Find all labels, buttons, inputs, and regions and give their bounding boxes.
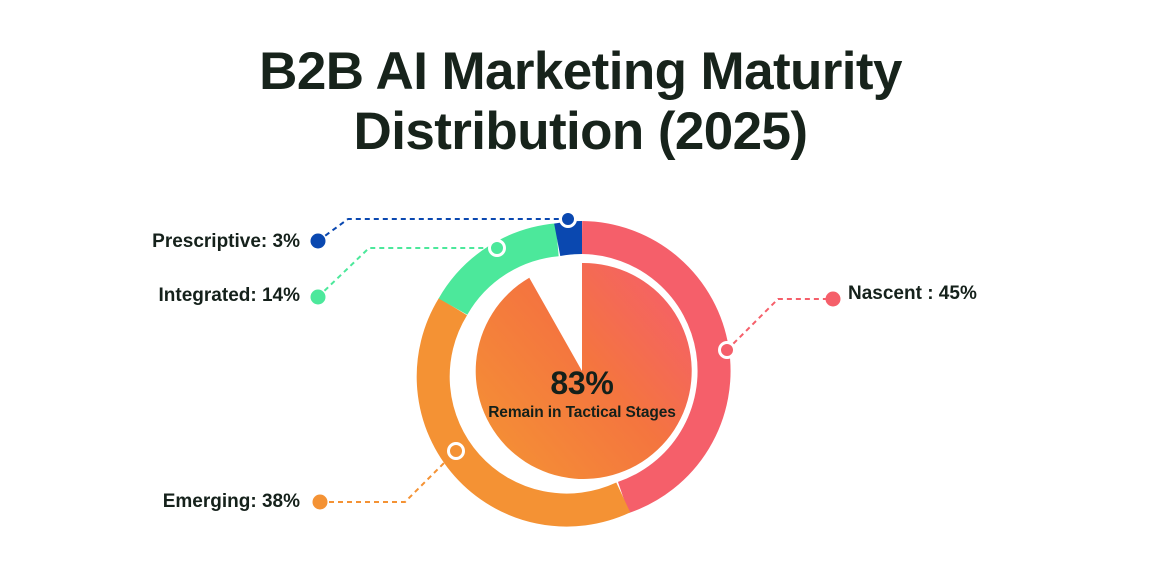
connector-dot-nascent-label bbox=[826, 292, 841, 307]
callout-label-integrated: Integrated: 14% bbox=[0, 285, 300, 307]
connector-dot-prescriptive-slice bbox=[561, 212, 576, 227]
connector-dot-prescriptive-label bbox=[311, 234, 326, 249]
connector-dot-emerging-label bbox=[313, 495, 328, 510]
connector-line-nascent bbox=[727, 299, 833, 350]
callout-label-prescriptive: Prescriptive: 3% bbox=[0, 231, 300, 253]
connector-dot-nascent-slice bbox=[720, 343, 735, 358]
chart-container: B2B AI Marketing Maturity Distribution (… bbox=[0, 0, 1161, 577]
donut-segment-prescriptive[interactable] bbox=[557, 238, 582, 240]
connector-dot-emerging-slice bbox=[449, 444, 464, 459]
callout-label-emerging: Emerging: 38% bbox=[0, 491, 300, 513]
callout-label-nascent: Nascent : 45% bbox=[848, 283, 1148, 305]
connector-dot-integrated-label bbox=[311, 290, 326, 305]
connector-line-emerging bbox=[320, 451, 456, 502]
inner-pie-tactical[interactable] bbox=[476, 263, 692, 479]
connector-dot-integrated-slice bbox=[490, 241, 505, 256]
